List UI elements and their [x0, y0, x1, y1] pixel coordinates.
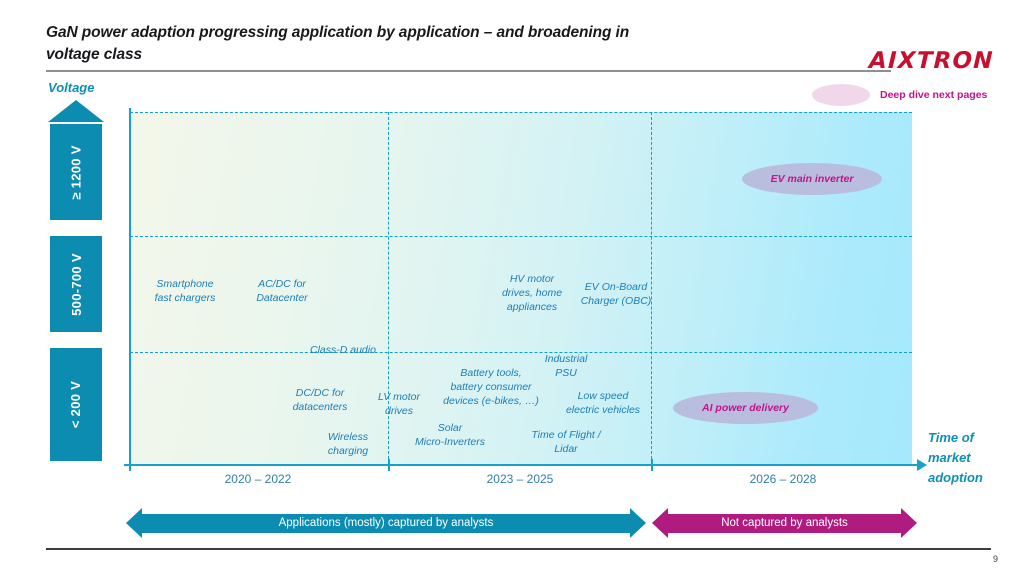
voltage-band-low-label: < 200 V — [69, 381, 84, 428]
highlight-ai-power-delivery-label: AI power delivery — [702, 402, 789, 414]
voltage-band-low: < 200 V — [50, 348, 102, 461]
x-tick-label-1: 2023 – 2025 — [440, 472, 600, 486]
arrow-left-head-icon — [126, 508, 142, 538]
aixtron-logo: AIXTRON — [869, 48, 995, 74]
highlight-ai-power-delivery: AI power delivery — [673, 392, 818, 424]
item-smartphone-fast-chargers: Smartphone fast chargers — [137, 277, 233, 305]
x-axis-line — [124, 464, 919, 466]
voltage-band-mid-label: 500-700 V — [69, 253, 84, 316]
slide-root: GaN power adaption progressing applicati… — [0, 0, 1024, 576]
voltage-band-high-label: ≥ 1200 V — [69, 145, 84, 199]
item-class-d-audio: Class-D audio — [310, 343, 400, 357]
page-title: GaN power adaption progressing applicati… — [46, 22, 666, 66]
legend: Deep dive next pages — [812, 84, 987, 106]
x-axis-title: Time of market adoption — [928, 428, 1020, 488]
x-tick-label-2: 2026 – 2028 — [703, 472, 863, 486]
gridline-horizontal-low — [130, 352, 912, 353]
annotation-not-captured-label: Not captured by analysts — [668, 514, 901, 533]
highlight-ev-main-inverter-label: EV main inverter — [771, 173, 854, 185]
gridline-horizontal-mid — [130, 236, 912, 237]
arrow-right-head-icon — [630, 508, 646, 538]
page-number: 9 — [993, 554, 998, 564]
voltage-band-high: ≥ 1200 V — [50, 124, 102, 220]
item-acdc-datacenter: AC/DC for Datacenter — [237, 277, 327, 305]
annotation-captured-label: Applications (mostly) captured by analys… — [142, 514, 630, 533]
y-axis-arrow-icon — [48, 100, 104, 122]
arrow-right-head-icon-2 — [901, 508, 917, 538]
footer-divider — [46, 548, 991, 550]
x-axis-tick-0 — [129, 459, 131, 471]
legend-label: Deep dive next pages — [880, 89, 987, 101]
item-time-of-flight-lidar: Time of Flight / Lidar — [518, 428, 614, 456]
item-wireless-charging: Wireless charging — [307, 430, 389, 458]
annotation-captured-by-analysts: Applications (mostly) captured by analys… — [126, 508, 646, 538]
gridline-horizontal-top — [130, 112, 912, 113]
item-low-speed-ev: Low speed electric vehicles — [552, 389, 654, 417]
item-ev-onboard-charger: EV On-Board Charger (OBC) — [572, 280, 660, 308]
x-axis-tick-1 — [388, 459, 390, 471]
item-solar-micro-inverters: Solar Micro-Inverters — [404, 421, 496, 449]
item-lv-motor-drives: LV motor drives — [366, 390, 432, 418]
item-hv-motor-drives: HV motor drives, home appliances — [492, 272, 572, 315]
voltage-band-mid: 500-700 V — [50, 236, 102, 332]
x-axis-arrow-icon — [917, 459, 927, 471]
arrow-left-head-icon-2 — [652, 508, 668, 538]
x-axis-tick-2 — [651, 459, 653, 471]
legend-ellipse-icon — [812, 84, 870, 106]
item-industrial-psu: Industrial PSU — [530, 352, 602, 380]
highlight-ev-main-inverter: EV main inverter — [742, 163, 882, 195]
x-tick-label-0: 2020 – 2022 — [178, 472, 338, 486]
item-dcdc-datacenters: DC/DC for datacenters — [274, 386, 366, 414]
annotation-not-captured-by-analysts: Not captured by analysts — [652, 508, 917, 538]
y-axis-title: Voltage — [48, 80, 94, 95]
y-axis-line — [129, 108, 131, 466]
title-divider — [46, 70, 891, 72]
